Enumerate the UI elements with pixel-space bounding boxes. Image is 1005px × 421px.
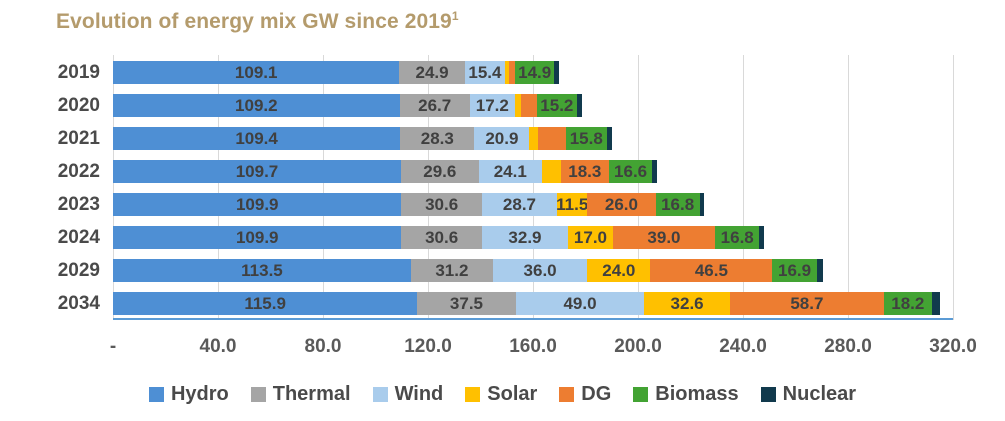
bar-segment-value-label: 32.6 [671,295,704,312]
bar-segment-dg[interactable] [538,127,565,150]
bar-segment-biomass[interactable]: 14.9 [515,61,554,84]
gridline [953,55,954,320]
bar-segment-value-label: 109.7 [236,163,279,180]
bar-segment-wind[interactable]: 32.9 [482,226,568,249]
bar-segment-value-label: 49.0 [563,295,596,312]
bar-segment-nuclear[interactable] [759,226,764,249]
legend-item-nuclear[interactable]: Nuclear [761,383,856,406]
bar-row[interactable]: 2021109.428.320.915.8 [113,127,612,150]
bar-segment-thermal[interactable]: 24.9 [399,61,464,84]
bar-segment-thermal[interactable]: 28.3 [400,127,474,150]
y-axis-category-label: 2023 [8,193,100,216]
bar-segment-dg[interactable]: 58.7 [730,292,884,315]
bar-segment-biomass[interactable]: 16.8 [656,193,700,216]
bar-segment-value-label: 20.9 [485,130,518,147]
bar-segment-wind[interactable]: 15.4 [465,61,505,84]
bar-segment-thermal[interactable]: 26.7 [400,94,470,117]
bar-segment-value-label: 16.6 [614,163,647,180]
bar-segment-thermal[interactable]: 29.6 [401,160,479,183]
bar-segment-nuclear[interactable] [652,160,657,183]
bar-row[interactable]: 2019109.124.915.414.9 [113,61,559,84]
bar-segment-value-label: 24.9 [416,64,449,81]
bar-rows: 2019109.124.915.414.92020109.226.717.215… [113,55,953,320]
legend-swatch-icon [633,387,648,402]
bar-segment-solar[interactable]: 17.0 [568,226,613,249]
bar-segment-hydro[interactable]: 109.9 [113,226,401,249]
x-axis-tick-label: 280.0 [824,336,872,358]
bar-segment-solar[interactable]: 11.5 [557,193,587,216]
bar-segment-value-label: 46.5 [695,262,728,279]
bar-segment-wind[interactable]: 17.2 [470,94,515,117]
bar-segment-dg[interactable]: 46.5 [650,259,772,282]
chart-title-footnote-marker: 1 [452,9,459,23]
bar-segment-value-label: 17.2 [476,97,509,114]
bar-segment-nuclear[interactable] [700,193,705,216]
legend-swatch-icon [373,387,388,402]
legend-item-biomass[interactable]: Biomass [633,383,738,406]
legend-label: Biomass [655,383,738,406]
y-axis-category-label: 2019 [8,61,100,84]
bar-segment-dg[interactable]: 26.0 [587,193,655,216]
bar-row[interactable]: 2023109.930.628.711.526.016.8 [113,193,704,216]
legend-item-thermal[interactable]: Thermal [251,383,351,406]
x-axis-tick-label: - [110,336,116,358]
legend-item-hydro[interactable]: Hydro [149,383,229,406]
bar-segment-wind[interactable]: 28.7 [482,193,557,216]
bar-segment-value-label: 28.3 [421,130,454,147]
plot-area: 2019109.124.915.414.92020109.226.717.215… [113,55,953,320]
y-axis-category-label: 2034 [8,292,100,315]
bar-segment-hydro[interactable]: 109.2 [113,94,400,117]
chart-title-text: Evolution of energy mix GW since 2019 [56,10,452,33]
bar-segment-biomass[interactable]: 18.2 [884,292,932,315]
bar-segment-value-label: 14.9 [518,64,551,81]
bar-segment-value-label: 16.9 [778,262,811,279]
x-axis-tick-label: 200.0 [614,336,662,358]
bar-segment-value-label: 115.9 [244,295,286,312]
x-axis-baseline [113,318,953,320]
bar-segment-value-label: 109.1 [235,64,278,81]
bar-row[interactable]: 2022109.729.624.118.316.6 [113,160,657,183]
chart-legend: HydroThermalWindSolarDGBiomassNuclear [0,383,1005,406]
bar-segment-value-label: 26.0 [605,196,638,213]
bar-segment-nuclear[interactable] [607,127,612,150]
legend-item-solar[interactable]: Solar [465,383,537,406]
bar-segment-value-label: 17.0 [574,229,607,246]
legend-item-wind[interactable]: Wind [373,383,444,406]
legend-swatch-icon [465,387,480,402]
bar-segment-value-label: 39.0 [647,229,680,246]
bar-segment-biomass[interactable]: 15.8 [566,127,607,150]
bar-segment-value-label: 24.1 [494,163,527,180]
legend-label: Solar [487,383,537,406]
bar-segment-value-label: 37.5 [450,295,483,312]
legend-swatch-icon [251,387,266,402]
bar-segment-nuclear[interactable] [817,259,823,282]
legend-label: DG [581,383,611,406]
bar-segment-value-label: 30.6 [425,229,458,246]
bar-segment-value-label: 15.8 [570,130,603,147]
bar-row[interactable]: 2034115.937.549.032.658.718.2 [113,292,940,315]
bar-row[interactable]: 2024109.930.632.917.039.016.8 [113,226,764,249]
bar-segment-solar[interactable] [542,160,561,183]
bar-segment-hydro[interactable]: 109.7 [113,160,401,183]
y-axis-category-label: 2024 [8,226,100,249]
bar-segment-hydro[interactable]: 109.9 [113,193,401,216]
bar-segment-value-label: 18.3 [568,163,601,180]
bar-segment-biomass[interactable]: 16.6 [609,160,653,183]
bar-segment-value-label: 109.9 [236,196,279,213]
bar-segment-value-label: 28.7 [503,196,536,213]
bar-segment-value-label: 24.0 [602,262,635,279]
y-axis-category-label: 2022 [8,160,100,183]
bar-segment-value-label: 36.0 [524,262,557,279]
bar-segment-value-label: 16.8 [721,229,754,246]
bar-segment-thermal[interactable]: 30.6 [401,226,481,249]
legend-label: Wind [395,383,444,406]
legend-label: Nuclear [783,383,856,406]
legend-item-dg[interactable]: DG [559,383,611,406]
x-axis-tick-label: 120.0 [404,336,452,358]
energy-mix-chart: Evolution of energy mix GW since 20191 2… [0,0,1005,421]
bar-segment-solar[interactable]: 32.6 [644,292,730,315]
bar-segment-solar[interactable]: 24.0 [587,259,650,282]
bar-segment-thermal[interactable]: 31.2 [411,259,493,282]
bar-segment-biomass[interactable]: 16.8 [715,226,759,249]
bar-segment-value-label: 109.4 [235,130,278,147]
bar-segment-thermal[interactable]: 30.6 [401,193,481,216]
bar-segment-biomass[interactable]: 16.9 [772,259,816,282]
bar-segment-value-label: 31.2 [435,262,468,279]
x-axis-tick-label: 160.0 [509,336,557,358]
bar-segment-wind[interactable]: 24.1 [479,160,542,183]
bar-segment-value-label: 32.9 [508,229,541,246]
bar-segment-value-label: 113.5 [241,262,283,279]
bar-segment-wind[interactable]: 20.9 [474,127,529,150]
legend-label: Thermal [273,383,351,406]
legend-swatch-icon [149,387,164,402]
bar-segment-hydro[interactable]: 109.1 [113,61,399,84]
chart-title: Evolution of energy mix GW since 20191 [56,10,459,34]
bar-segment-biomass[interactable]: 15.2 [537,94,577,117]
legend-label: Hydro [171,383,229,406]
x-axis-tick-label: 80.0 [305,336,342,358]
bar-row[interactable]: 2020109.226.717.215.2 [113,94,582,117]
y-axis-category-label: 2021 [8,127,100,150]
x-axis: -40.080.0120.0160.0200.0240.0280.0320.0 [113,336,953,362]
bar-segment-dg[interactable] [521,94,537,117]
bar-segment-hydro[interactable]: 109.4 [113,127,400,150]
bar-segment-nuclear[interactable] [554,61,559,84]
bar-segment-value-label: 26.7 [418,97,451,114]
x-axis-tick-label: 40.0 [200,336,237,358]
bar-segment-hydro[interactable]: 115.9 [113,292,417,315]
bar-segment-wind[interactable]: 36.0 [493,259,588,282]
bar-segment-value-label: 16.8 [661,196,694,213]
bar-segment-thermal[interactable]: 37.5 [417,292,515,315]
bar-segment-value-label: 58.7 [790,295,823,312]
bar-segment-dg[interactable]: 18.3 [561,160,609,183]
bar-segment-value-label: 18.2 [891,295,924,312]
bar-row[interactable]: 2029113.531.236.024.046.516.9 [113,259,823,282]
bar-segment-value-label: 15.4 [468,64,501,81]
bar-segment-value-label: 15.2 [540,97,573,114]
bar-segment-nuclear[interactable] [577,94,582,117]
bar-segment-wind[interactable]: 49.0 [516,292,645,315]
bar-segment-value-label: 30.6 [425,196,458,213]
bar-segment-dg[interactable]: 39.0 [613,226,715,249]
bar-segment-solar[interactable] [529,127,538,150]
x-axis-tick-label: 320.0 [929,336,977,358]
bar-segment-value-label: 109.9 [236,229,279,246]
bar-segment-value-label: 109.2 [235,97,278,114]
x-axis-tick-label: 240.0 [719,336,767,358]
legend-swatch-icon [559,387,574,402]
bar-segment-nuclear[interactable] [932,292,941,315]
y-axis-category-label: 2029 [8,259,100,282]
y-axis-category-label: 2020 [8,94,100,117]
legend-swatch-icon [761,387,776,402]
bar-segment-value-label: 11.5 [556,196,588,213]
bar-segment-value-label: 29.6 [423,163,456,180]
bar-segment-hydro[interactable]: 113.5 [113,259,411,282]
